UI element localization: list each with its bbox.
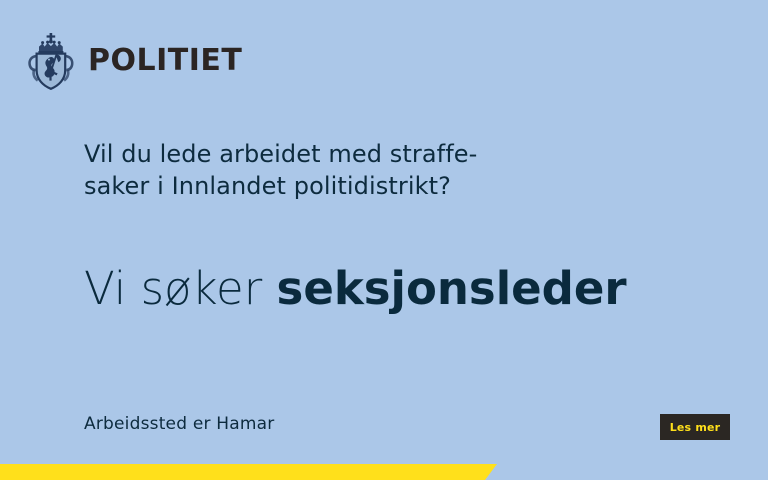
subheading-line-1: Vil du lede arbeidet med straffe- <box>84 139 604 171</box>
subheading-line-2: saker i Innlandet politidistrikt? <box>84 171 604 203</box>
yellow-accent-stripe <box>0 456 768 480</box>
les-mer-button[interactable]: Les mer <box>660 414 730 440</box>
headline-strong-part: seksjonsleder <box>277 262 627 315</box>
les-mer-button-label: Les mer <box>670 422 721 433</box>
subheading: Vil du lede arbeidet med straffe- saker … <box>84 139 604 203</box>
headline-light-part: Vi søker <box>84 262 277 315</box>
job-ad-banner: POLITIET Vil du lede arbeidet med straff… <box>0 0 768 480</box>
politiet-wordmark: POLITIET <box>88 46 242 76</box>
location-text: Arbeidssted er Hamar <box>84 414 274 434</box>
headline: Vi søker seksjonsleder <box>84 265 627 312</box>
coat-of-arms-icon <box>24 32 78 90</box>
politiet-logo[interactable]: POLITIET <box>24 32 242 90</box>
